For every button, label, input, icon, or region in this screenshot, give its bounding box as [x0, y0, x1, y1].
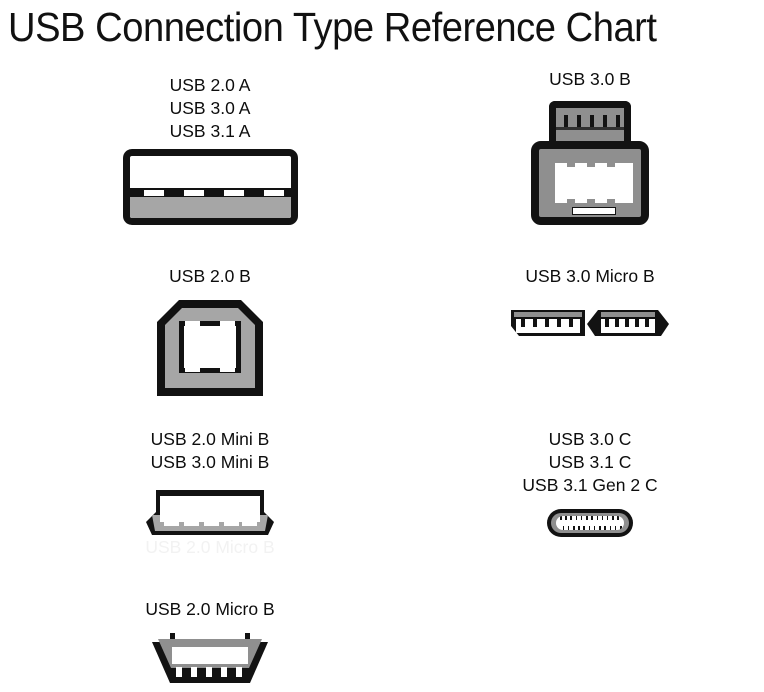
usb-mini-b-connector-icon: [146, 490, 274, 535]
ghost-label-artifact: USB 2.0 Micro B: [110, 536, 310, 559]
label-line: USB 3.0 A: [60, 97, 360, 120]
usb-c-pin-tick: [576, 516, 578, 520]
usb-c-pin-tick: [591, 516, 593, 520]
connector-usb-a: USB 2.0 A USB 3.0 A USB 3.1 A: [60, 74, 360, 225]
usb-c-pin-tick: [565, 516, 567, 520]
usb-c-pin-tick: [617, 516, 619, 520]
usb-c-pin-tick: [570, 516, 572, 520]
usb-type-b-2-0-connector-icon: [157, 300, 263, 396]
page-title: USB Connection Type Reference Chart: [8, 2, 711, 52]
label-line: USB 3.1 Gen 2 C: [460, 474, 720, 497]
label-line: USB 2.0 Mini B: [60, 428, 360, 451]
usb-type-a-connector-icon: [123, 149, 298, 225]
usb-type-b-3-0-connector-icon: [531, 101, 649, 225]
usb-c-pin-tick: [599, 526, 601, 530]
label-line: USB 2.0 Micro B: [60, 598, 360, 621]
label-line: USB 3.0 C: [460, 428, 720, 451]
usb-c-pin-tick: [602, 516, 604, 520]
usb-c-pin-tick: [604, 526, 606, 530]
usb-c-pin-tick: [607, 516, 609, 520]
connector-usb-c: USB 3.0 C USB 3.1 C USB 3.1 Gen 2 C: [460, 428, 720, 537]
connector-usb-2-0-b-labels: USB 2.0 B: [60, 265, 360, 288]
label-line: USB 2.0 A: [60, 74, 360, 97]
connector-usb-mini-b-labels: USB 2.0 Mini B USB 3.0 Mini B: [60, 428, 360, 474]
usb-c-pin-tick: [578, 526, 580, 530]
usb-type-c-connector-icon: [547, 509, 633, 537]
connector-usb-2-0-b: USB 2.0 B: [60, 265, 360, 396]
connector-usb-3-0-micro-b: USB 3.0 Micro B: [460, 265, 720, 340]
connector-usb-3-0-b-labels: USB 3.0 B: [460, 68, 720, 91]
usb-c-pin-tick: [589, 526, 591, 530]
usb-c-pin-tick: [586, 516, 588, 520]
label-line: USB 3.0 Mini B: [60, 451, 360, 474]
connector-usb-mini-b: USB 2.0 Mini B USB 3.0 Mini B: [60, 428, 360, 535]
usb-c-pin-tick: [612, 516, 614, 520]
connector-usb-2-0-micro-b: USB 2.0 Micro B: [60, 598, 360, 683]
connector-usb-a-labels: USB 2.0 A USB 3.0 A USB 3.1 A: [60, 74, 360, 143]
label-line: USB 2.0 B: [60, 265, 360, 288]
label-line: USB 3.0 Micro B: [460, 265, 720, 288]
label-line: USB 3.1 A: [60, 120, 360, 143]
usb-micro-b-2-0-connector-icon: [152, 633, 268, 683]
usb-c-pin-tick: [615, 526, 617, 530]
usb-c-pin-tick: [610, 526, 612, 530]
usb-c-pin-tick: [573, 526, 575, 530]
connector-usb-3-0-b: USB 3.0 B: [460, 68, 720, 225]
usb-micro-b-3-0-connector-icon: [511, 306, 669, 340]
connector-usb-3-0-micro-b-labels: USB 3.0 Micro B: [460, 265, 720, 288]
usb-c-pin-tick: [594, 526, 596, 530]
connector-usb-2-0-micro-b-labels: USB 2.0 Micro B: [60, 598, 360, 621]
usb-c-pin-tick: [597, 516, 599, 520]
usb-c-pin-tick: [568, 526, 570, 530]
usb-c-pin-tick: [583, 526, 585, 530]
label-line: USB 3.1 C: [460, 451, 720, 474]
usb-c-pin-tick: [620, 526, 622, 530]
label-line: USB 3.0 B: [460, 68, 720, 91]
usb-c-pin-tick: [563, 526, 565, 530]
usb-c-pin-tick: [560, 516, 562, 520]
connector-usb-c-labels: USB 3.0 C USB 3.1 C USB 3.1 Gen 2 C: [460, 428, 720, 497]
usb-c-pin-tick: [581, 516, 583, 520]
